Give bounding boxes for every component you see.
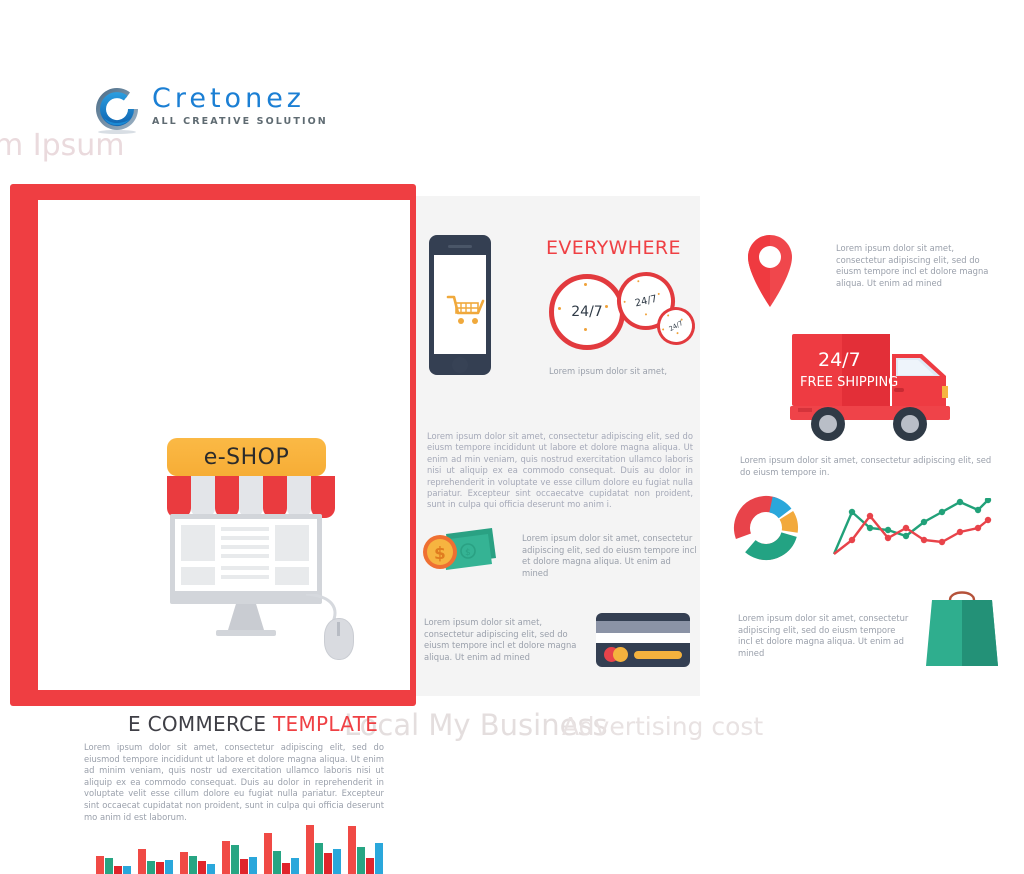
watermark-bottom-right: Advertising cost	[562, 712, 763, 741]
bar-group	[306, 814, 344, 874]
shopping-cart-icon	[446, 293, 486, 329]
bar-group	[138, 814, 176, 874]
bar-chart	[96, 814, 396, 874]
monitor-stand	[228, 604, 264, 630]
bar-group	[180, 814, 218, 874]
bar-group	[96, 814, 134, 874]
eshop-illustration: e-SHOP	[158, 438, 368, 686]
clock-label: 24/7	[571, 304, 602, 320]
desktop-monitor-icon	[170, 514, 322, 604]
phone-screen	[434, 255, 486, 354]
svg-text:$: $	[434, 544, 446, 564]
bar	[291, 858, 299, 874]
bar	[114, 866, 122, 874]
bar-group	[264, 814, 302, 874]
bar-group	[222, 814, 260, 874]
clock-label: 24/7	[634, 293, 658, 309]
awning-stripe	[311, 476, 335, 518]
title-primary: E COMMERCE	[128, 712, 266, 736]
everywhere-heading: EVERYWHERE	[546, 237, 681, 259]
truck-line2: FREE SHIPPING	[800, 375, 898, 390]
left-red-frame: e-SHOP	[10, 184, 416, 706]
awning-stripe	[263, 476, 287, 518]
monitor-screen	[175, 519, 317, 591]
pin-text: Lorem ipsum dolor sit amet, consectetur …	[836, 243, 1001, 289]
bar	[207, 864, 215, 874]
smartphone-icon	[429, 235, 491, 375]
left-white-card: e-SHOP	[38, 200, 410, 690]
bar	[273, 851, 281, 874]
infographic-canvas: m Ipsum Local My Business Advertising co…	[0, 0, 1024, 768]
money-cash-icon: $ $	[420, 524, 500, 572]
bar	[165, 860, 173, 874]
bar	[282, 863, 290, 874]
bar	[366, 858, 374, 874]
awning-stripe	[215, 476, 239, 518]
card-magnetic-stripe	[596, 621, 690, 633]
card-text: Lorem ipsum dolor sit amet, consectetur …	[424, 617, 594, 663]
truck-line1: 24/7	[818, 349, 861, 371]
bar	[240, 859, 248, 874]
bar	[306, 825, 314, 874]
bar	[348, 826, 356, 874]
bag-text: Lorem ipsum dolor sit amet, consectetur …	[738, 613, 910, 659]
clock-label: 24/7	[668, 319, 685, 333]
bar	[138, 849, 146, 874]
awning-stripe	[191, 476, 215, 518]
bar	[324, 853, 332, 874]
svg-text:$: $	[465, 548, 471, 558]
eshop-sign: e-SHOP	[167, 438, 326, 476]
bar	[264, 833, 272, 874]
eshop-sign-label: e-SHOP	[204, 445, 290, 470]
phone-home-button	[452, 357, 468, 373]
map-pin-icon	[744, 231, 796, 307]
logo-name: Cretonez	[152, 84, 328, 114]
awning-stripe	[239, 476, 263, 518]
credit-card-icon	[596, 613, 690, 667]
bar	[96, 856, 104, 874]
logo-text-block: Cretonez ALL CREATIVE SOLUTION	[152, 84, 328, 129]
bar	[198, 861, 206, 874]
bar	[315, 843, 323, 874]
donut-chart-icon	[730, 492, 802, 564]
bar	[156, 862, 164, 874]
left-body-text: Lorem ipsum dolor sit amet, consectetur …	[84, 742, 384, 823]
bar	[222, 841, 230, 874]
clock-caption: Lorem ipsum dolor sit amet,	[549, 366, 667, 376]
clock-badge: 24/7	[549, 274, 625, 350]
money-text: Lorem ipsum dolor sit amet, consectetur …	[522, 533, 697, 579]
card-white-stripe	[596, 633, 690, 643]
middle-body-text: Lorem ipsum dolor sit amet, consectetur …	[427, 431, 693, 511]
bar	[123, 866, 131, 874]
bar	[147, 861, 155, 874]
logo-tagline: ALL CREATIVE SOLUTION	[152, 115, 328, 129]
bar	[180, 852, 188, 874]
bar	[105, 858, 113, 874]
card-number-bar	[634, 651, 682, 659]
bar-group	[348, 814, 386, 874]
phone-speaker	[448, 245, 472, 248]
bar	[231, 845, 239, 874]
computer-mouse-icon	[324, 618, 354, 660]
c-swirl-logo-icon	[90, 82, 144, 136]
delivery-truck-icon: 24/7 FREE SHIPPING	[790, 328, 960, 444]
bar	[189, 856, 197, 874]
title-accent: TEMPLATE	[273, 712, 378, 736]
line-chart-icon	[828, 498, 994, 560]
bar	[333, 849, 341, 874]
bar	[375, 843, 383, 874]
monitor-base	[216, 630, 276, 636]
awning-stripe	[287, 476, 311, 518]
bar	[249, 857, 257, 874]
bar	[357, 847, 365, 874]
truck-text: Lorem ipsum dolor sit amet, consectetur …	[740, 455, 1000, 478]
mouse-button-divider	[337, 622, 340, 636]
page-title: E COMMERCE TEMPLATE	[128, 712, 378, 736]
awning-stripe	[167, 476, 191, 518]
brand-logo: Cretonez ALL CREATIVE SOLUTION	[90, 82, 330, 144]
shopping-bag-icon	[926, 588, 998, 670]
card-logo-circle	[613, 647, 628, 662]
